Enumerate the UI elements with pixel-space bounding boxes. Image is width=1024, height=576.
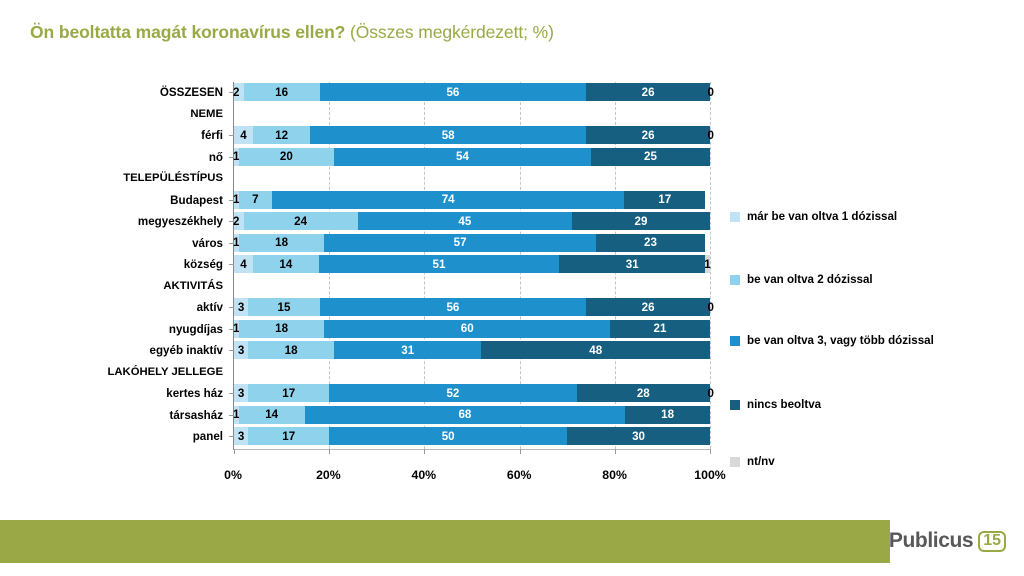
- logo-badge: 15: [978, 531, 1006, 552]
- bar-segment: 26: [586, 83, 710, 101]
- bar-segment-label: 21: [654, 322, 667, 335]
- bar-segment: 51: [319, 255, 559, 273]
- legend-label: nincs beoltva: [747, 398, 821, 413]
- bar-segment: 25: [591, 148, 710, 166]
- bar-segment: 16: [244, 83, 320, 101]
- bar-row: 41451311: [234, 255, 710, 273]
- bar-segment-label: 14: [279, 258, 292, 271]
- category-group-label: NEME: [60, 104, 230, 126]
- x-axis-tick-label: 80%: [602, 468, 627, 482]
- bar-segment-label: 60: [461, 322, 474, 335]
- bar-segment: 7: [239, 191, 272, 209]
- plot-area: 2165626041258260120542517741722445291185…: [233, 82, 710, 450]
- bar-segment-label: 4: [240, 258, 246, 271]
- bar-segment: 2: [234, 83, 244, 101]
- bar-row: 41258260: [234, 126, 710, 144]
- bar-segment: 4: [234, 255, 253, 273]
- bar-segment: 56: [320, 298, 587, 316]
- legend-label: nt/nv: [747, 455, 775, 470]
- bar-segment: 26: [586, 298, 710, 316]
- bar-row: 2244529: [234, 212, 710, 230]
- category-label: nyugdíjas: [60, 319, 230, 341]
- bar-segment: 3: [234, 384, 248, 402]
- bar-segment-label: 23: [644, 236, 657, 249]
- bar-segment: 14: [239, 406, 305, 424]
- bar-segment: 17: [624, 191, 705, 209]
- slide: Ön beoltatta magát koronavírus ellen? (Ö…: [0, 0, 1024, 576]
- diamond-cluster-icon: [859, 528, 885, 554]
- bar-segment: 1: [705, 255, 710, 273]
- bar-segment: 2: [234, 212, 244, 230]
- bar-segment-label: 17: [658, 193, 671, 206]
- bar-segment-label: 48: [589, 344, 602, 357]
- bar-segment: 26: [586, 126, 710, 144]
- bar-segment-label: 24: [294, 215, 307, 228]
- bar-segment: 18: [239, 320, 325, 338]
- bar-segment-label: 28: [637, 387, 650, 400]
- bar-segment: 3: [234, 427, 248, 445]
- bar-segment-label: 30: [632, 430, 645, 443]
- bar-segment: 54: [334, 148, 591, 166]
- bar-row: 1186021: [234, 320, 710, 338]
- bar-segment: 68: [305, 406, 626, 424]
- bar-segment: 24: [244, 212, 358, 230]
- bar-segment-label: 74: [442, 193, 455, 206]
- legend-item[interactable]: nt/nv: [730, 455, 775, 470]
- bar-segment-label: 56: [446, 301, 459, 314]
- bar-segment-label: 12: [275, 129, 288, 142]
- category-label: aktív: [60, 297, 230, 319]
- bar-segment-label: 26: [642, 129, 655, 142]
- bar-segment-label: 3: [238, 430, 244, 443]
- bar-segment: 23: [596, 234, 705, 252]
- bar-segment: 3: [234, 341, 248, 359]
- bar-row: 3183148: [234, 341, 710, 359]
- category-label: férfi: [60, 125, 230, 147]
- legend-label: már be van oltva 1 dózissal: [747, 210, 897, 225]
- bar-segment-label: 56: [446, 86, 459, 99]
- bar-segment-label: 26: [642, 301, 655, 314]
- category-label: egyéb inaktív: [60, 340, 230, 362]
- bar-segment: 31: [334, 341, 482, 359]
- bar-segment: 30: [567, 427, 710, 445]
- bar-segment: 21: [610, 320, 710, 338]
- bar-segment-label: 50: [442, 430, 455, 443]
- bar-segment-label: 0: [700, 126, 714, 144]
- stacked-bar-chart: ÖSSZESENNEMEférfinőTELEPÜLÉSTÍPUSBudapes…: [0, 70, 1024, 490]
- bar-segment: 52: [329, 384, 577, 402]
- bar-segment: 29: [572, 212, 710, 230]
- x-axis-tick-label: 20%: [316, 468, 341, 482]
- bar-segment-label: 45: [458, 215, 471, 228]
- title-subtitle: (Összes megkérdezett; %): [350, 22, 554, 42]
- bar-segment: 14: [253, 255, 319, 273]
- bar-segment-label: 25: [644, 150, 657, 163]
- bar-segment: 18: [248, 341, 334, 359]
- legend-swatch-icon: [730, 457, 740, 467]
- category-label: megyeszékhely: [60, 211, 230, 233]
- bar-segment-label: 0: [700, 384, 714, 402]
- bar-segment-label: 58: [442, 129, 455, 142]
- bar-segment-label: 1: [704, 258, 710, 271]
- bar-segment: 4: [234, 126, 253, 144]
- bar-segment-label: 0: [700, 83, 714, 101]
- bar-segment: 18: [239, 234, 325, 252]
- bar-segment: 18: [625, 406, 710, 424]
- category-label: város: [60, 233, 230, 255]
- category-group-label: AKTIVITÁS: [60, 276, 230, 298]
- category-label: kertes ház: [60, 383, 230, 405]
- bar-segment: 17: [248, 384, 329, 402]
- category-group-label: TELEPÜLÉSTÍPUS: [60, 168, 230, 190]
- bar-segment-label: 18: [275, 236, 288, 249]
- bar-segment-label: 26: [642, 86, 655, 99]
- bar-segment-label: 31: [401, 344, 414, 357]
- bar-segment-label: 0: [700, 298, 714, 316]
- bar-row: 31556260: [234, 298, 710, 316]
- bar-segment-label: 51: [433, 258, 446, 271]
- bar-row: 1205425: [234, 148, 710, 166]
- legend-swatch-icon: [730, 400, 740, 410]
- bar-segment-label: 3: [238, 387, 244, 400]
- bar-row: 3175030: [234, 427, 710, 445]
- bar-segment-label: 14: [265, 408, 278, 421]
- bar-segment-label: 18: [285, 344, 298, 357]
- x-axis-tick-label: 60%: [507, 468, 532, 482]
- bar-segment: 58: [310, 126, 586, 144]
- logo-wordmark: Publicus: [889, 529, 973, 553]
- x-axis-labels: 0%20%40%60%80%100%: [233, 468, 710, 488]
- bar-segment: 60: [324, 320, 610, 338]
- category-label: község: [60, 254, 230, 276]
- bar-row: 1185723: [234, 234, 710, 252]
- x-axis-tick-label: 0%: [224, 468, 242, 482]
- x-axis-tick-label: 40%: [411, 468, 436, 482]
- bar-segment-label: 54: [456, 150, 469, 163]
- bar-segment-label: 52: [446, 387, 459, 400]
- bar-segment: 45: [358, 212, 572, 230]
- category-label: Budapest: [60, 190, 230, 212]
- bar-segment: 17: [248, 427, 329, 445]
- legend-label: be van oltva 3, vagy több dózissal: [747, 334, 934, 349]
- bar-segment: 56: [320, 83, 587, 101]
- bar-segment-label: 3: [238, 344, 244, 357]
- bar-segment-label: 3: [238, 301, 244, 314]
- bar-segment-label: 16: [275, 86, 288, 99]
- legend-swatch-icon: [730, 275, 740, 285]
- category-label: nő: [60, 147, 230, 169]
- footer-green-bar: [0, 520, 890, 563]
- bar-segment-label: 20: [280, 150, 293, 163]
- legend-item[interactable]: be van oltva 3, vagy több dózissal: [730, 334, 934, 349]
- legend-item[interactable]: nincs beoltva: [730, 398, 821, 413]
- title-main: Ön beoltatta magát koronavírus ellen?: [30, 22, 345, 42]
- bar-segment: 31: [559, 255, 705, 273]
- publicus-logo: Publicus 15: [859, 528, 1006, 554]
- bar-segment-label: 57: [454, 236, 467, 249]
- category-label: ÖSSZESEN: [60, 82, 230, 104]
- bar-segment-label: 15: [278, 301, 291, 314]
- legend-item[interactable]: már be van oltva 1 dózissal: [730, 210, 897, 225]
- legend-swatch-icon: [730, 336, 740, 346]
- category-label: panel: [60, 426, 230, 448]
- legend-swatch-icon: [730, 212, 740, 222]
- legend-item[interactable]: be van oltva 2 dózissal: [730, 273, 873, 288]
- bar-segment: 57: [324, 234, 595, 252]
- bar-segment: 3: [234, 298, 248, 316]
- bar-segment-label: 17: [282, 430, 295, 443]
- bar-segment: 20: [239, 148, 334, 166]
- bar-segment-label: 7: [252, 193, 258, 206]
- bar-segment: 48: [481, 341, 709, 359]
- legend-label: be van oltva 2 dózissal: [747, 273, 873, 288]
- category-group-label: LAKÓHELY JELLEGE: [60, 362, 230, 384]
- bar-segment: 28: [577, 384, 710, 402]
- bar-segment-label: 17: [282, 387, 295, 400]
- bar-segment-label: 18: [275, 322, 288, 335]
- bar-segment: 15: [248, 298, 319, 316]
- bar-segment: 12: [253, 126, 310, 144]
- bar-segment: 74: [272, 191, 624, 209]
- bar-segment-label: 29: [635, 215, 648, 228]
- bar-row: 1146818: [234, 406, 710, 424]
- bar-segment-label: 68: [458, 408, 471, 421]
- bar-row: 21656260: [234, 83, 710, 101]
- bar-segment-label: 18: [661, 408, 674, 421]
- bar-row: 31752280: [234, 384, 710, 402]
- page-title: Ön beoltatta magát koronavírus ellen? (Ö…: [30, 22, 554, 43]
- category-axis-labels: ÖSSZESENNEMEférfinőTELEPÜLÉSTÍPUSBudapes…: [60, 82, 230, 448]
- bar-row: 177417: [234, 191, 710, 209]
- bar-segment-label: 31: [626, 258, 639, 271]
- bar-segment-label: 4: [240, 129, 246, 142]
- category-label: társasház: [60, 405, 230, 427]
- bar-segment: 50: [329, 427, 567, 445]
- x-axis-tick-label: 100%: [694, 468, 725, 482]
